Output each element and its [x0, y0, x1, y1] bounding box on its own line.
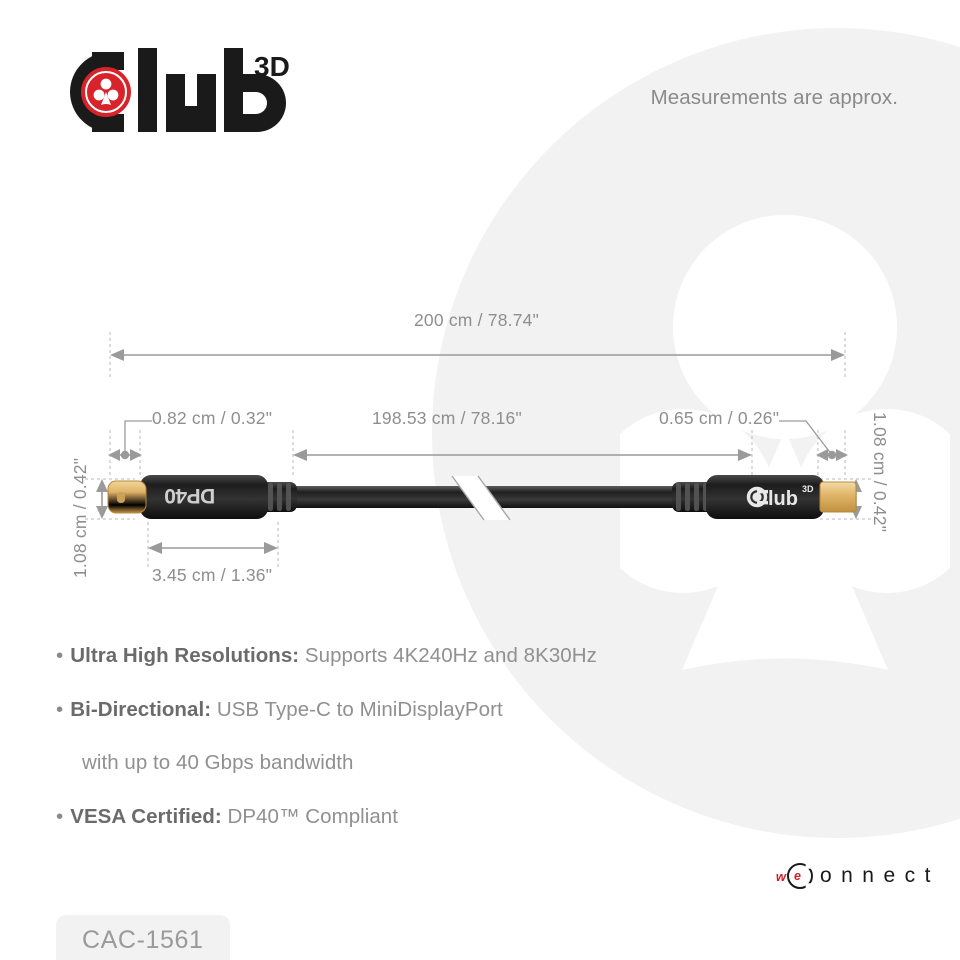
dim-right-height: 1.08 cm / 0.42": [869, 412, 890, 532]
product-spec-page: 3D Measurements are approx.: [0, 0, 960, 960]
cable-illustration: DP40 lu: [0, 290, 960, 620]
svg-text:lub: lub: [768, 488, 798, 510]
dim-right-lip: 0.65 cm / 0.26": [659, 408, 779, 429]
dim-cable-length: 198.53 cm / 78.16": [372, 408, 522, 429]
dim-left-lip: 0.82 cm / 0.32": [152, 408, 272, 429]
feature-list: •Ultra High Resolutions: Supports 4K240H…: [56, 646, 876, 860]
weconnect-w: w: [776, 869, 786, 884]
bullet-icon: •: [56, 644, 63, 667]
weconnect-ce-mark: e: [787, 863, 813, 889]
measurements-note: Measurements are approx.: [651, 86, 898, 110]
club3d-logo: 3D: [62, 46, 312, 138]
weconnect-e: e: [794, 869, 801, 883]
feature-label: Bi-Directional:: [70, 698, 211, 721]
feature-item-3: •VESA Certified: DP40™ Compliant: [56, 807, 876, 828]
feature-item-1: •Bi-Directional: USB Type-C to MiniDispl…: [56, 700, 876, 721]
feature-item-0: •Ultra High Resolutions: Supports 4K240H…: [56, 646, 876, 667]
left-connector-marking: DP40: [165, 484, 216, 507]
feature-label: Ultra High Resolutions:: [70, 644, 299, 667]
part-number-badge: CAC-1561: [56, 915, 230, 960]
feature-item-2: with up to 40 Gbps bandwidth: [56, 753, 876, 774]
feature-label: VESA Certified:: [70, 805, 222, 828]
svg-text:3D: 3D: [802, 484, 814, 494]
bullet-icon: •: [56, 805, 63, 828]
weconnect-logo: w e onnect: [776, 856, 940, 896]
logo-superscript: 3D: [254, 51, 290, 82]
dim-left-connector-width: 3.45 cm / 1.36": [152, 565, 272, 586]
feature-text: USB Type-C to MiniDisplayPort: [217, 698, 503, 721]
bullet-icon: •: [56, 698, 63, 721]
feature-text: DP40™ Compliant: [227, 805, 398, 828]
weconnect-rest: onnect: [820, 864, 940, 888]
feature-text: Supports 4K240Hz and 8K30Hz: [305, 644, 597, 667]
dim-total-length: 200 cm / 78.74": [414, 310, 539, 331]
feature-text: with up to 40 Gbps bandwidth: [56, 751, 354, 774]
dim-left-height: 1.08 cm / 0.42": [70, 458, 91, 578]
cable-dimension-diagram: DP40 lu: [0, 290, 960, 620]
